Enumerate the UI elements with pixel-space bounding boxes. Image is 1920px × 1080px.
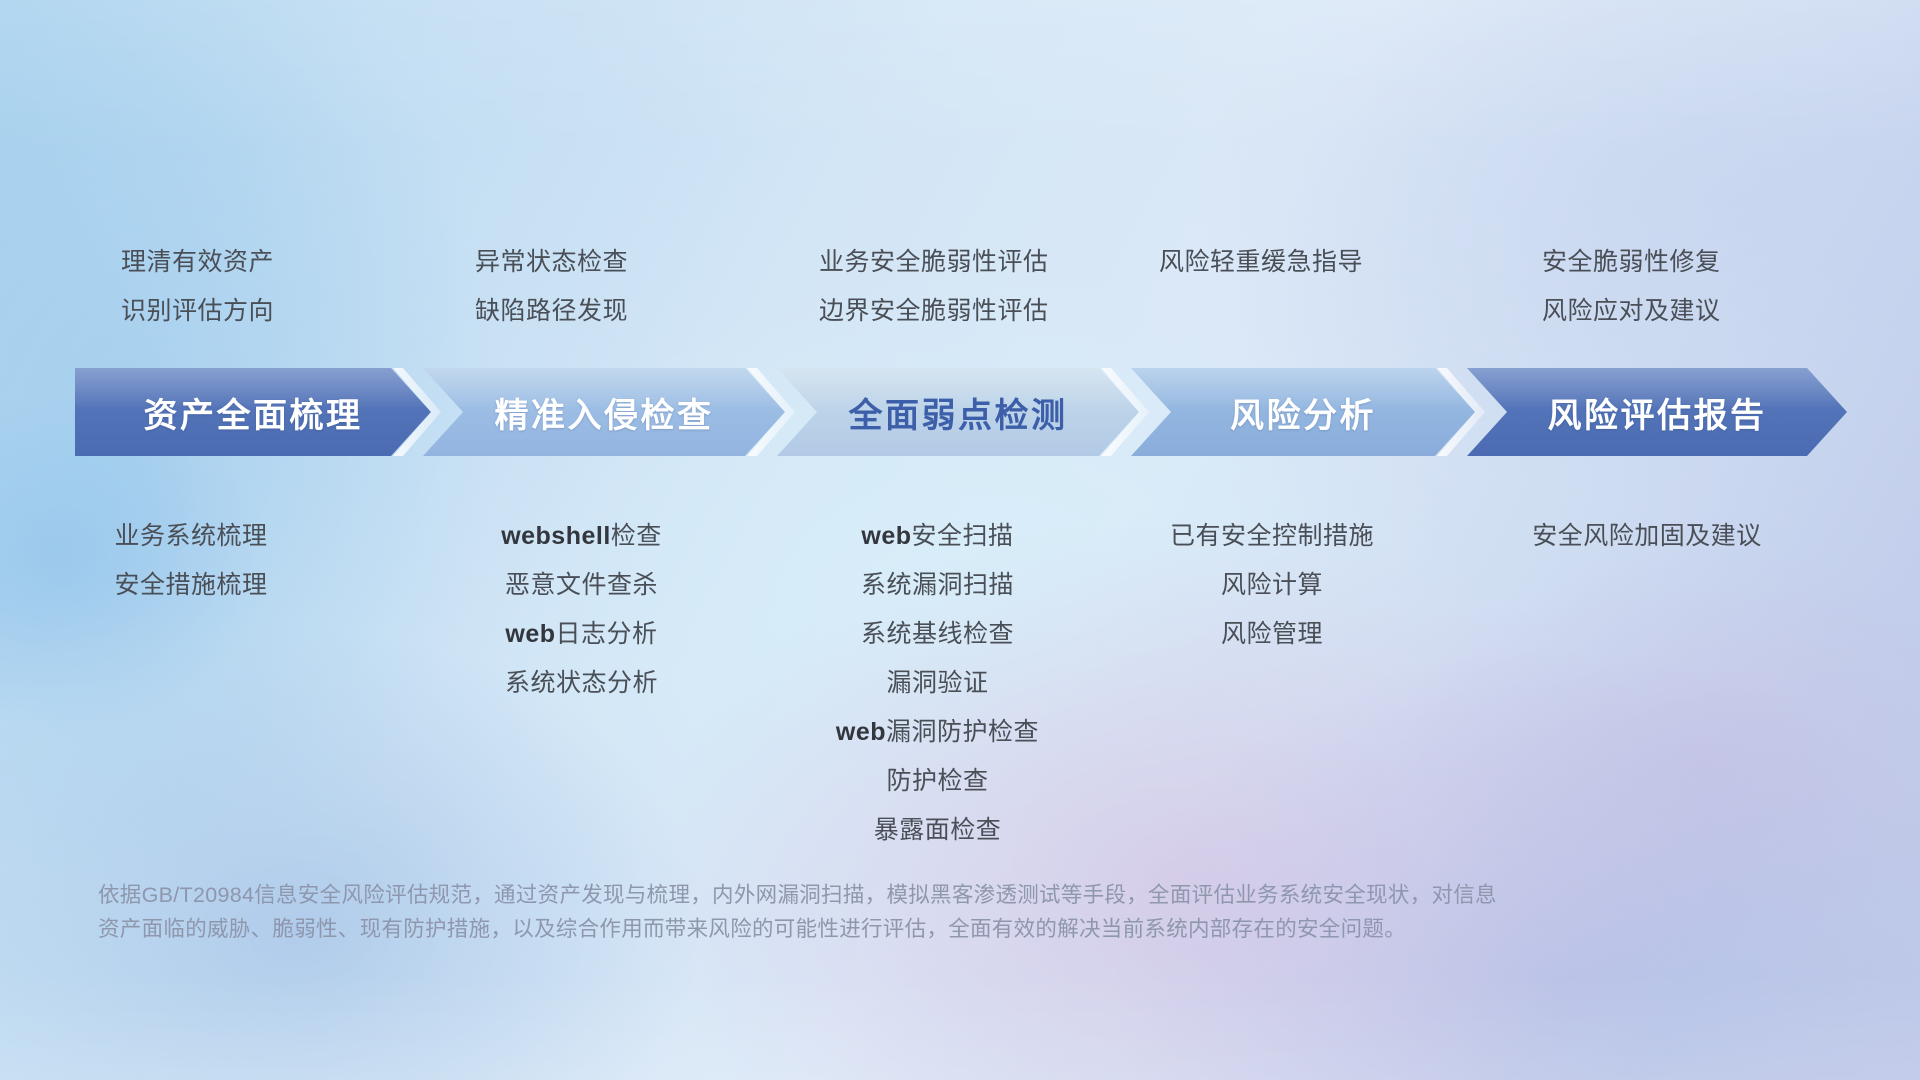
task-item: 安全措施梳理 — [75, 561, 307, 610]
chevron-label: 资产全面梳理 — [144, 388, 363, 437]
outcome-text: 异常状态检查 — [475, 238, 780, 287]
task-prefix: web — [861, 522, 911, 550]
tasks-asset-inventory: 业务系统梳理 安全措施梳理 — [75, 512, 425, 610]
task-item: web日志分析 — [425, 610, 738, 659]
task-text: 已有安全控制措施 — [1170, 522, 1374, 550]
chevron-stage-asset-inventory[interactable]: 资产全面梳理 — [75, 368, 431, 456]
footer-line-2: 资产面临的威胁、脆弱性、现有防护措施，以及综合作用而带来风险的可能性进行评估，全… — [98, 912, 1658, 946]
task-text: 暴露面检查 — [874, 816, 1002, 844]
task-prefix: web — [505, 620, 555, 648]
chevron-label: 精准入侵检查 — [495, 388, 714, 437]
task-item: 业务系统梳理 — [75, 512, 307, 561]
task-text: 系统漏洞扫描 — [861, 571, 1014, 599]
task-item: web安全扫描 — [780, 512, 1095, 561]
outcome-text: 缺陷路径发现 — [475, 287, 780, 336]
task-item: 系统漏洞扫描 — [780, 561, 1095, 610]
tasks-intrusion-check: webshell检查 恶意文件查杀 web日志分析 系统状态分析 — [425, 512, 780, 708]
chevron-label: 风险分析 — [1230, 388, 1376, 437]
task-prefix: web — [836, 718, 886, 746]
task-text: 系统基线检查 — [861, 620, 1014, 648]
chevron-stage-risk-report[interactable]: 风险评估报告 — [1467, 368, 1847, 456]
footer-line-1: 依据GB/T20984信息安全风险评估规范，通过资产发现与梳理，内外网漏洞扫描，… — [98, 878, 1658, 912]
outcome-text: 业务安全脆弱性评估 — [819, 238, 1125, 287]
task-item: 暴露面检查 — [780, 806, 1095, 855]
tasks-risk-report: 安全风险加固及建议 — [1455, 512, 1845, 561]
task-item: 安全风险加固及建议 — [1455, 512, 1839, 561]
outcome-text: 识别评估方向 — [121, 287, 425, 336]
outcomes-risk-analysis: 风险轻重缓急指导 — [1125, 238, 1455, 336]
task-text: 业务系统梳理 — [114, 522, 267, 550]
stage-tasks-row: 业务系统梳理 安全措施梳理 webshell检查 恶意文件查杀 web日志分析 … — [75, 512, 1845, 855]
outcomes-weakness-detection: 业务安全脆弱性评估 边界安全脆弱性评估 — [780, 238, 1125, 336]
chevron-stage-intrusion-check[interactable]: 精准入侵检查 — [423, 368, 785, 456]
outcomes-asset-inventory: 理清有效资产 识别评估方向 — [75, 238, 425, 336]
process-chevron-banner: 资产全面梳理 精准入侵检查 全面弱点检测 风险分析 风险评估报告 — [75, 368, 1847, 456]
outcomes-risk-report: 安全脆弱性修复 风险应对及建议 — [1455, 238, 1845, 336]
task-text: 安全扫描 — [912, 522, 1014, 550]
task-item: 恶意文件查杀 — [425, 561, 738, 610]
task-item: 风险管理 — [1125, 610, 1419, 659]
tasks-risk-analysis: 已有安全控制措施 风险计算 风险管理 — [1125, 512, 1455, 659]
footer-description: 依据GB/T20984信息安全风险评估规范，通过资产发现与梳理，内外网漏洞扫描，… — [98, 878, 1658, 946]
tasks-weakness-detection: web安全扫描 系统漏洞扫描 系统基线检查 漏洞验证 web漏洞防护检查 防护检… — [780, 512, 1125, 855]
task-text: 日志分析 — [556, 620, 658, 648]
chevron-label: 全面弱点检测 — [849, 388, 1068, 437]
outcome-text: 风险轻重缓急指导 — [1159, 238, 1455, 287]
outcome-text: 风险应对及建议 — [1542, 287, 1845, 336]
chevron-stage-risk-analysis[interactable]: 风险分析 — [1131, 368, 1475, 456]
outcome-text: 理清有效资产 — [121, 238, 425, 287]
task-item: web漏洞防护检查 — [780, 708, 1095, 757]
task-item: 系统基线检查 — [780, 610, 1095, 659]
task-text: 漏洞防护检查 — [886, 718, 1039, 746]
outcomes-intrusion-check: 异常状态检查 缺陷路径发现 — [425, 238, 780, 336]
task-item: 系统状态分析 — [425, 659, 738, 708]
task-item: webshell检查 — [425, 512, 738, 561]
chevron-stage-weakness-detection[interactable]: 全面弱点检测 — [777, 368, 1139, 456]
task-text: 安全风险加固及建议 — [1532, 522, 1762, 550]
outcome-text: 安全脆弱性修复 — [1542, 238, 1845, 287]
task-text: 风险计算 — [1221, 571, 1323, 599]
task-text: 防护检查 — [886, 767, 988, 795]
task-text: 检查 — [611, 522, 662, 550]
task-item: 漏洞验证 — [780, 659, 1095, 708]
slide-canvas: 理清有效资产 识别评估方向 异常状态检查 缺陷路径发现 业务安全脆弱性评估 边界… — [0, 0, 1920, 1080]
chevron-label: 风险评估报告 — [1548, 388, 1767, 437]
task-item: 已有安全控制措施 — [1125, 512, 1419, 561]
task-text: 安全措施梳理 — [114, 571, 267, 599]
task-prefix: webshell — [501, 522, 611, 550]
task-item: 风险计算 — [1125, 561, 1419, 610]
task-item: 防护检查 — [780, 757, 1095, 806]
stage-outcomes-row: 理清有效资产 识别评估方向 异常状态检查 缺陷路径发现 业务安全脆弱性评估 边界… — [75, 238, 1845, 336]
task-text: 风险管理 — [1221, 620, 1323, 648]
task-text: 漏洞验证 — [886, 669, 988, 697]
task-text: 系统状态分析 — [505, 669, 658, 697]
outcome-text: 边界安全脆弱性评估 — [819, 287, 1125, 336]
task-text: 恶意文件查杀 — [505, 571, 658, 599]
